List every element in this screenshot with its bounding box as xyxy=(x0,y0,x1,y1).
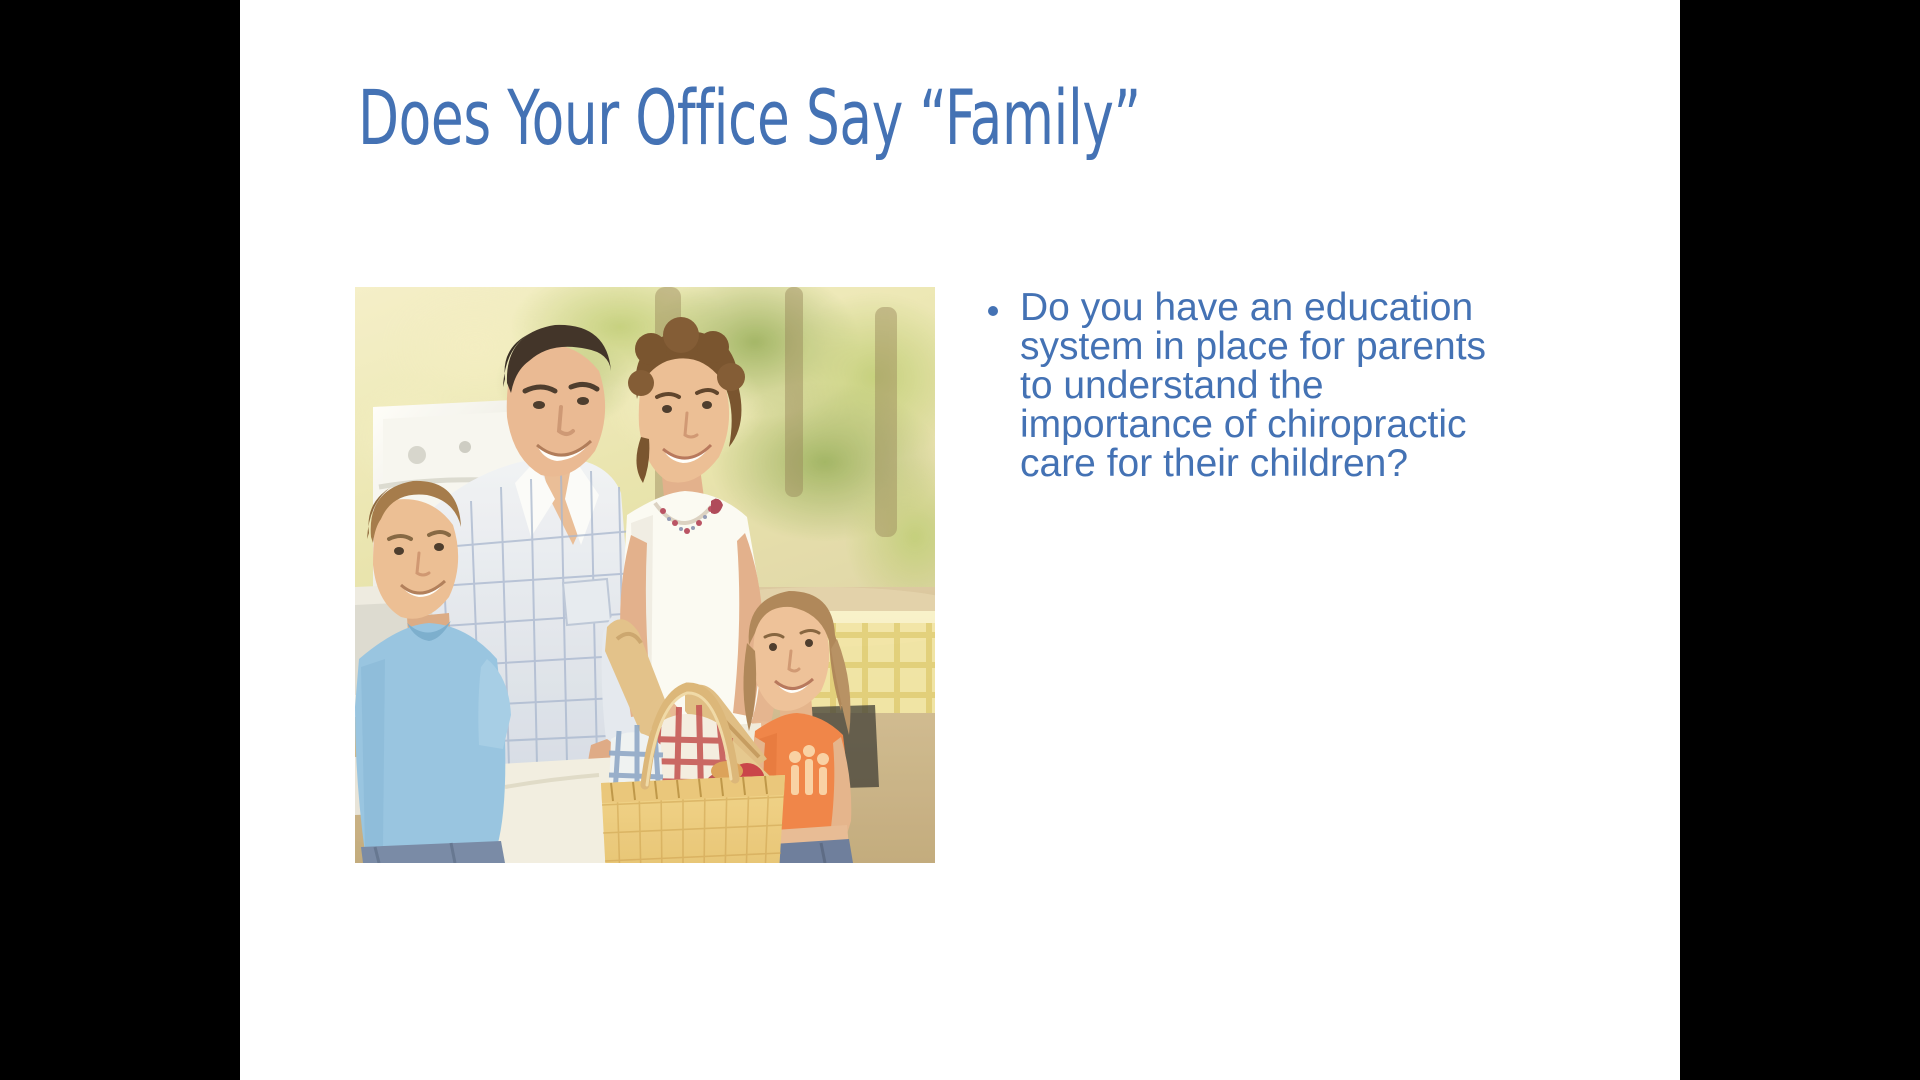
letterbox-bar-right xyxy=(1680,0,1920,1080)
presentation-slide: Does Your Office Say “Family” xyxy=(240,0,1680,1080)
family-picnic-illustration xyxy=(355,287,935,863)
bullet-text: Do you have an education system in place… xyxy=(1020,286,1486,485)
bullet-dot-icon xyxy=(988,306,998,316)
letterbox-bar-left xyxy=(0,0,240,1080)
list-item: Do you have an education system in place… xyxy=(982,288,1502,483)
bullet-list: Do you have an education system in place… xyxy=(982,288,1502,483)
family-picnic-photo xyxy=(355,287,935,863)
slide-viewer: Does Your Office Say “Family” xyxy=(0,0,1920,1080)
slide-title: Does Your Office Say “Family” xyxy=(358,78,1294,158)
